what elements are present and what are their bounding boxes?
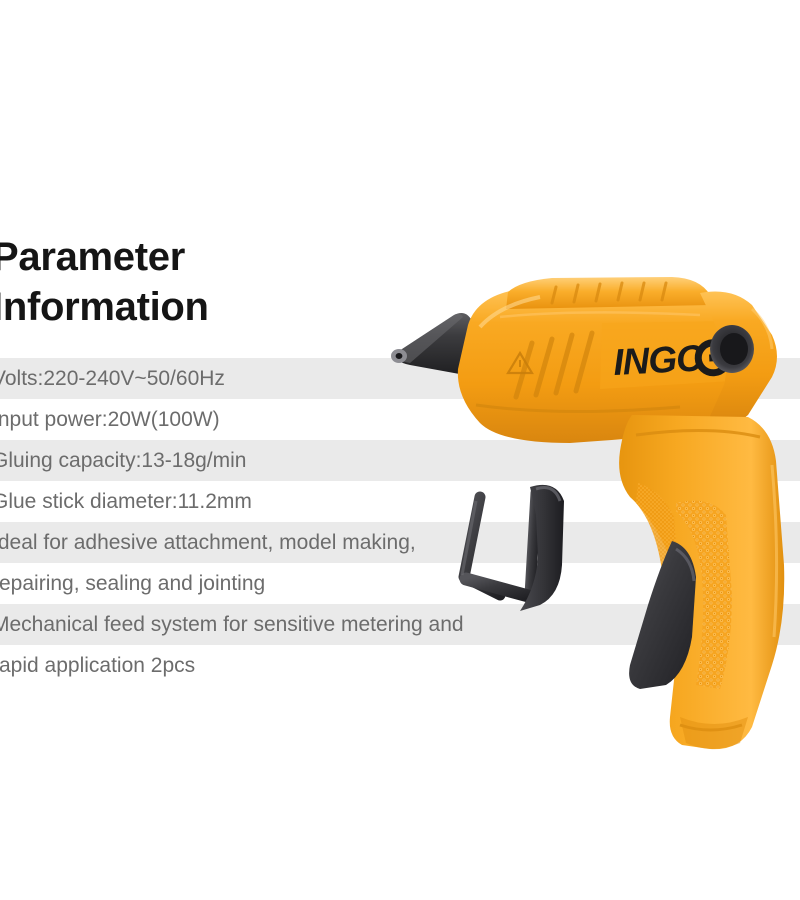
spec-row: Gluing capacity:13-18g/min bbox=[0, 440, 800, 481]
product-info-page: Volts:220-240V~50/60Hz Input power:20W(1… bbox=[0, 0, 800, 900]
spec-row-text: Input power:20W(100W) bbox=[0, 408, 220, 432]
spec-row-text: Mechanical feed system for sensitive met… bbox=[0, 613, 464, 637]
spec-row: Mechanical feed system for sensitive met… bbox=[0, 604, 800, 645]
spec-row-text: Volts:220-240V~50/60Hz bbox=[0, 367, 225, 391]
spec-row-text: rapid application 2pcs bbox=[0, 654, 195, 678]
spec-row: Glue stick diameter:11.2mm bbox=[0, 481, 800, 522]
page-title-line1: Parameter bbox=[0, 232, 412, 282]
spec-row: rapid application 2pcs bbox=[0, 645, 800, 686]
spec-row-text: Glue stick diameter:11.2mm bbox=[0, 490, 252, 514]
page-title-line2: Information bbox=[0, 282, 412, 332]
page-title: Parameter Information bbox=[0, 232, 412, 332]
spec-row-text: Gluing capacity:13-18g/min bbox=[0, 449, 246, 473]
spec-row: Volts:220-240V~50/60Hz bbox=[0, 358, 800, 399]
specification-list: Volts:220-240V~50/60Hz Input power:20W(1… bbox=[0, 358, 800, 686]
spec-row: Ideal for adhesive attachment, model mak… bbox=[0, 522, 800, 563]
spec-row: repairing, sealing and jointing bbox=[0, 563, 800, 604]
spec-row-text: Ideal for adhesive attachment, model mak… bbox=[0, 531, 416, 555]
spec-row-text: repairing, sealing and jointing bbox=[0, 572, 265, 596]
spec-row: Input power:20W(100W) bbox=[0, 399, 800, 440]
